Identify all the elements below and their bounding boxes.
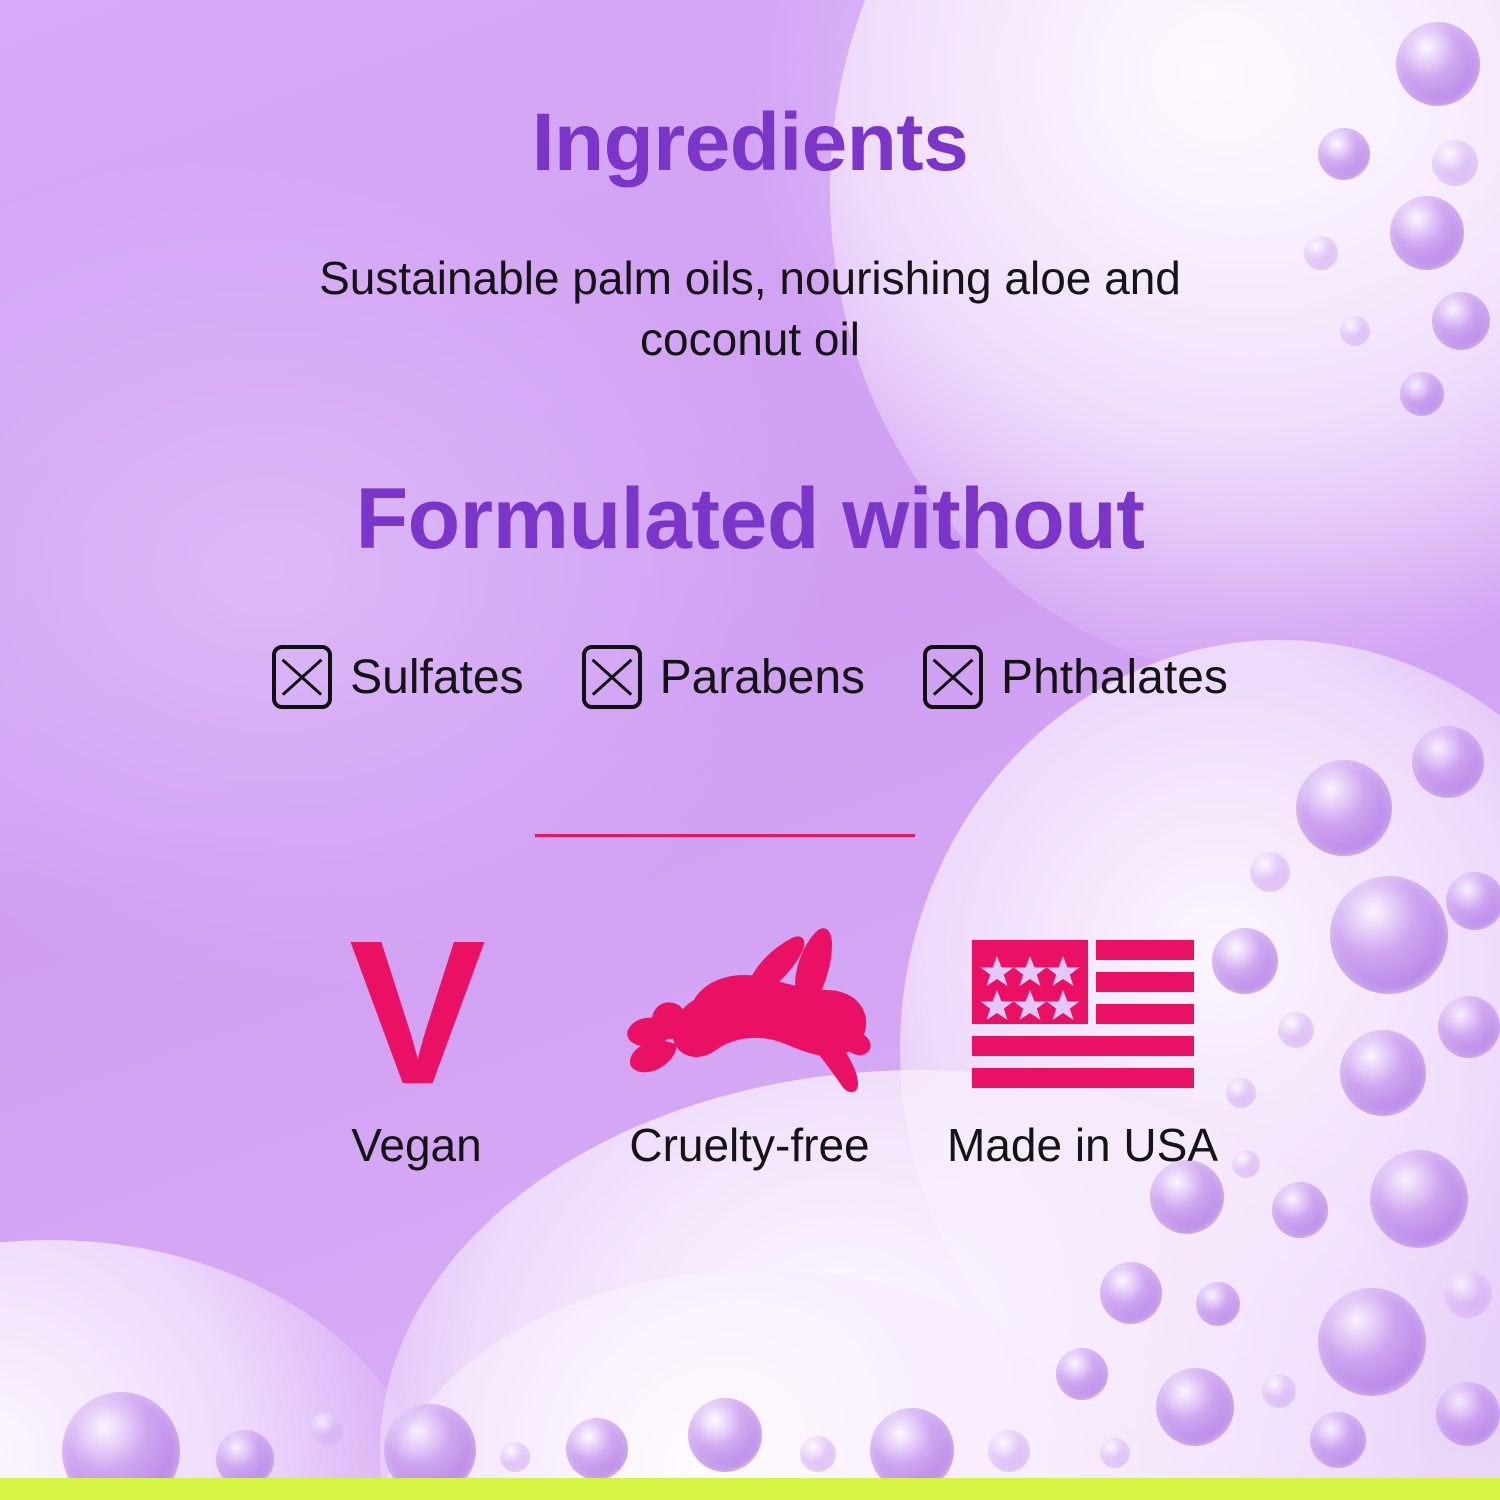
product-ingredients-infographic: Ingredients Sustainable palm oils, nouri…: [0, 0, 1500, 1500]
excluded-item-phthalates: Phthalates: [923, 645, 1228, 709]
excluded-item-parabens: Parabens: [582, 645, 865, 709]
bottom-accent-band: [0, 1478, 1500, 1500]
crossed-checkbox-icon: [582, 645, 642, 709]
excluded-item-sulfates: Sulfates: [272, 645, 523, 709]
crossed-checkbox-icon: [923, 645, 983, 709]
excluded-item-label: Sulfates: [350, 650, 523, 705]
badge-label: Made in USA: [947, 1118, 1218, 1172]
badge-vegan: V Vegan: [250, 925, 583, 1172]
badge-made-in-usa: Made in USA: [916, 925, 1249, 1172]
badge-label: Cruelty-free: [629, 1118, 869, 1172]
excluded-item-label: Parabens: [660, 650, 865, 705]
vegan-v-glyph: V: [349, 933, 484, 1093]
excluded-ingredients-row: Sulfates Parabens Phthalates: [0, 645, 1500, 709]
usa-flag-icon: [972, 925, 1194, 1100]
badge-label: Vegan: [351, 1118, 481, 1172]
formulated-without-heading: Formulated without: [0, 470, 1500, 569]
excluded-item-label: Phthalates: [1001, 650, 1228, 705]
ingredients-body-text: Sustainable palm oils, nourishing aloe a…: [250, 248, 1250, 369]
rabbit-icon: [620, 925, 880, 1100]
certification-badges-row: V Vegan: [250, 925, 1250, 1172]
vegan-v-icon: V: [349, 925, 484, 1100]
badge-cruelty-free: Cruelty-free: [583, 925, 916, 1172]
crossed-checkbox-icon: [272, 645, 332, 709]
ingredients-heading: Ingredients: [0, 96, 1500, 190]
section-divider: [535, 834, 915, 837]
